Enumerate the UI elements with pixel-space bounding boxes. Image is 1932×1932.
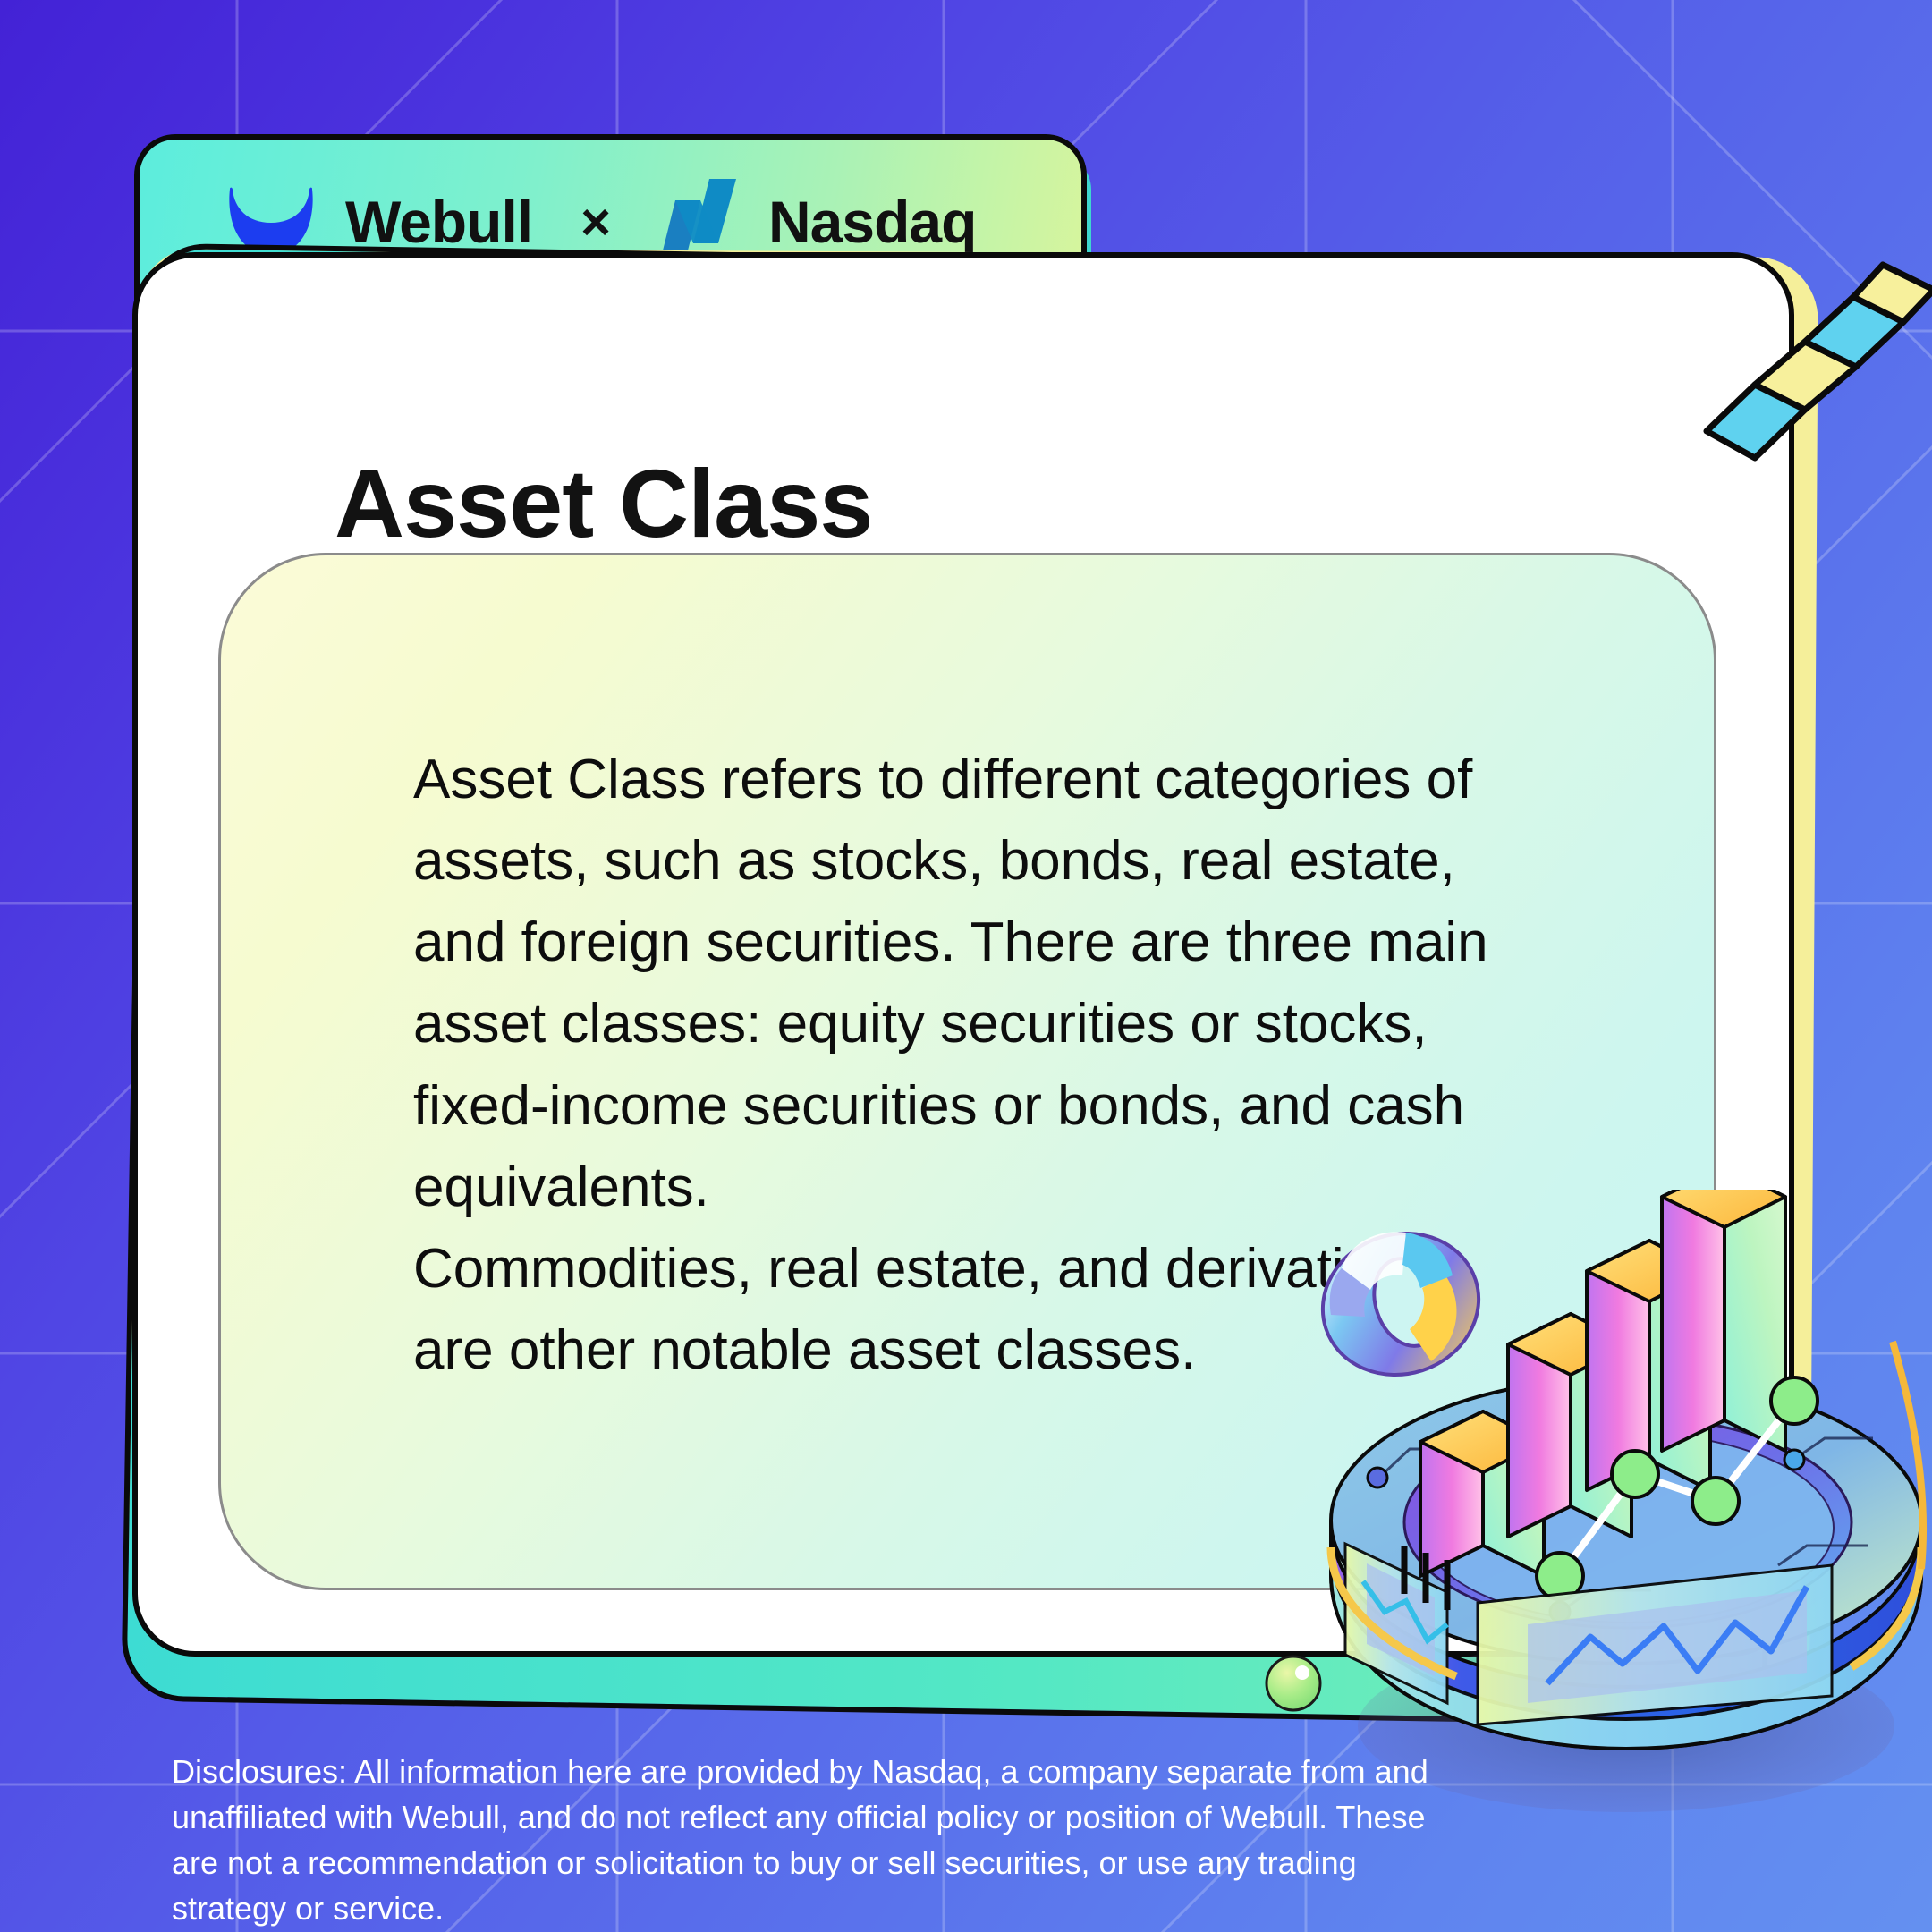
disclosures-text: Disclosures: All information here are pr…: [172, 1749, 1442, 1931]
page-title: Asset Class: [335, 447, 872, 559]
green-sphere-icon: [1263, 1653, 1324, 1714]
zigzag-ribbon-icon: [1699, 234, 1932, 485]
donut-chart-torus-icon: [1304, 1214, 1497, 1395]
webull-wordmark: Webull: [345, 188, 532, 256]
nasdaq-wordmark: Nasdaq: [768, 188, 976, 256]
collab-separator-icon: ×: [580, 192, 611, 252]
